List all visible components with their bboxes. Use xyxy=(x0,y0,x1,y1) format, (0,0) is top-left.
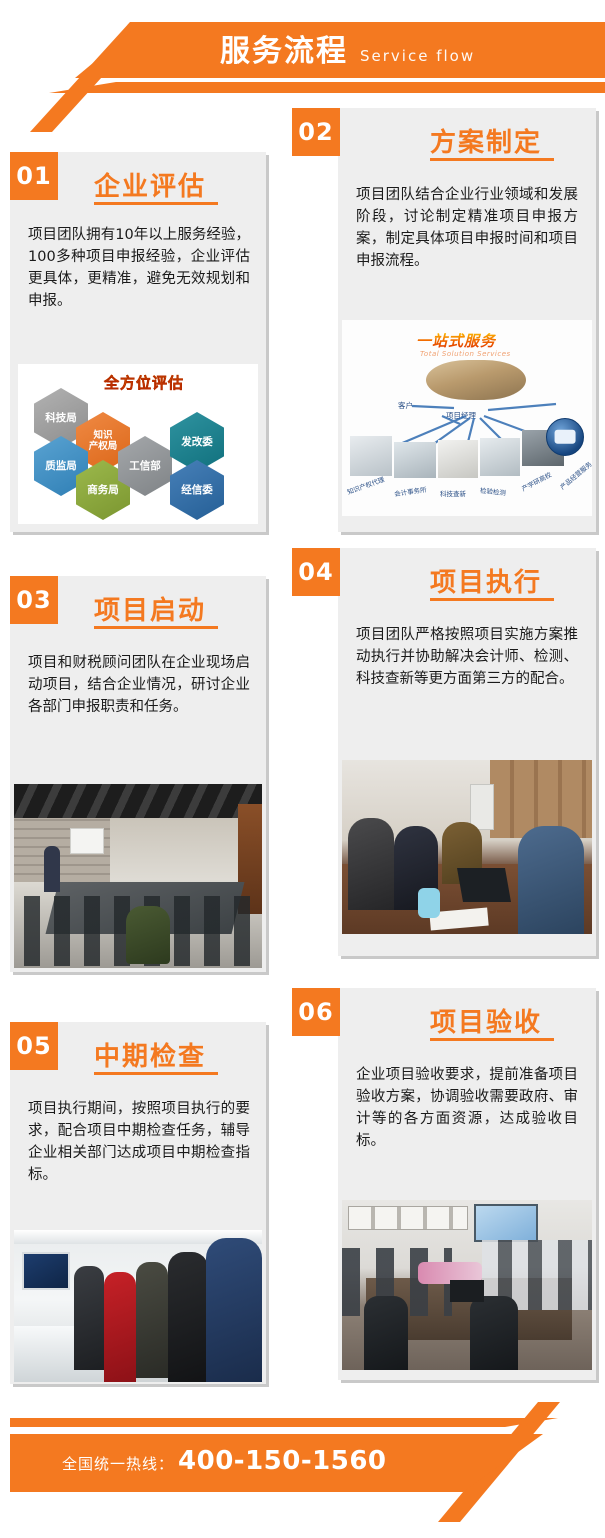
laptop-on-table xyxy=(450,1280,484,1302)
chair-front-left xyxy=(364,1296,408,1370)
visitor-blue-jacket xyxy=(206,1238,262,1382)
standing-person xyxy=(44,846,60,892)
title-underline xyxy=(430,158,554,161)
hex-node-label: 科技局 xyxy=(45,412,77,424)
title-underline xyxy=(430,598,554,601)
visitor-dark-1 xyxy=(74,1266,104,1370)
visitor-black-jacket xyxy=(168,1252,208,1382)
page-footer: 全国统一热线： 400-150-1560 xyxy=(0,1418,605,1538)
step-card-06: 06 项目验收 企业项目验收要求，提前准备项目验收方案，协调验收需要政府、审计等… xyxy=(292,988,602,1386)
hex-node-label: 知识产权局 xyxy=(89,431,118,453)
step-title: 项目验收 xyxy=(430,1002,542,1039)
hex-node-label: 质监局 xyxy=(45,460,77,472)
chair-front-right xyxy=(470,1296,518,1370)
step-description: 项目和财税顾问团队在企业现场启动项目，结合企业情况，研讨企业各部门申报职责和任务… xyxy=(28,652,250,718)
one-stop-label-ip: 知识产权代理 xyxy=(345,474,385,497)
one-stop-label-testing: 检验检测 xyxy=(480,485,507,498)
title-underline xyxy=(94,626,218,629)
title-underline xyxy=(94,202,218,205)
hex-node-label: 经信委 xyxy=(181,484,213,496)
hotline: 全国统一热线： 400-150-1560 xyxy=(62,1446,387,1476)
step-title: 方案制定 xyxy=(430,122,542,159)
one-stop-label-accounting: 会计事务所 xyxy=(393,484,427,498)
page-title: 服务流程 Service flow xyxy=(220,30,475,74)
one-stop-subtitle: Total Solution Services xyxy=(420,350,511,358)
step-number-badge: 05 xyxy=(10,1022,58,1070)
step-card-02: 02 方案制定 项目团队结合企业行业领域和发展阶段，讨论制定精准项目申报方案，制… xyxy=(292,108,602,538)
hotline-number[interactable]: 400-150-1560 xyxy=(178,1446,387,1476)
photo-scene xyxy=(14,784,262,968)
page-title-cn: 服务流程 xyxy=(220,30,348,74)
step-title: 中期检查 xyxy=(94,1036,206,1073)
step-description: 项目团队拥有10年以上服务经验，100多种项目申报经验，企业评估更具体，更精准，… xyxy=(28,224,250,312)
hex-node-jingxin: 经信委 xyxy=(170,460,224,520)
visitor-dark-2 xyxy=(136,1262,168,1378)
service-flow-infographic: 服务流程 Service flow 01 企业评估 项目团队拥有10年以上服务经… xyxy=(0,0,605,1538)
air-conditioner xyxy=(470,784,494,830)
step-number-badge: 04 xyxy=(292,548,340,596)
hotline-label: 全国统一热线： xyxy=(62,1453,174,1474)
photo-scene xyxy=(342,760,592,934)
ceiling-grid xyxy=(14,784,262,818)
person-left-1 xyxy=(348,818,394,910)
visitor-red-coat xyxy=(104,1272,136,1382)
step-number-badge: 06 xyxy=(292,988,340,1036)
step-number-badge: 03 xyxy=(10,576,58,624)
wall-display xyxy=(22,1252,70,1290)
one-stop-thumb-search xyxy=(438,440,478,478)
step-title: 项目执行 xyxy=(430,562,542,599)
step-card-05: 05 中期检查 项目执行期间，按照项目执行的要求，配合项目中期检查任务，辅导企业… xyxy=(10,1022,272,1390)
step-description: 项目团队结合企业行业领域和发展阶段，讨论制定精准项目申报方案，制定具体项目申报时… xyxy=(356,184,578,272)
page-title-en: Service flow xyxy=(360,34,475,78)
footer-orange-stripe xyxy=(10,1418,605,1427)
title-underline xyxy=(430,1038,554,1041)
one-stop-service-diagram: 一站式服务 Total Solution Services 客户 项目经理 xyxy=(342,320,592,516)
hex-node-label: 发改委 xyxy=(181,436,213,448)
step-description: 项目执行期间，按照项目执行的要求，配合项目中期检查任务，辅导企业相关部门达成项目… xyxy=(28,1098,250,1186)
presentation-screen xyxy=(474,1204,538,1242)
hexagon-assessment-diagram: 全方位评估 科技局 知识产权局 质监局 商务局 工信部 发改委 经信委 xyxy=(18,364,258,524)
laptop-icon xyxy=(457,868,511,902)
step-description: 企业项目验收要求，提前准备项目验收方案，协调验收需要政府、审计等的各方面资源，达… xyxy=(356,1064,578,1152)
one-stop-thumb-accounting xyxy=(394,442,436,478)
whiteboard xyxy=(70,828,104,854)
step-card-03: 03 项目启动 项目和财税顾问团队在企业现场启动项目，结合企业情况，研讨企业各部… xyxy=(10,576,272,978)
step-title: 企业评估 xyxy=(94,166,206,203)
step-title: 项目启动 xyxy=(94,590,206,627)
step-description: 项目团队严格按照项目实施方案推动执行并协助解决会计师、检测、科技查新等更方面第三… xyxy=(356,624,578,690)
photo-site-visit-lobby xyxy=(14,1230,262,1382)
title-underline xyxy=(94,1072,218,1075)
photo-team-working-laptops xyxy=(342,760,592,934)
photo-scene xyxy=(14,1230,262,1382)
one-stop-title: 一站式服务 xyxy=(416,330,496,351)
step-card-01: 01 企业评估 项目团队拥有10年以上服务经验，100多种项目申报经验，企业评估… xyxy=(10,152,272,538)
hex-node-label: 商务局 xyxy=(87,484,119,496)
one-stop-label-university: 产学研高校 xyxy=(520,469,553,493)
hexagon-diagram-title: 全方位评估 xyxy=(104,372,184,393)
one-stop-seal-icon xyxy=(546,418,584,456)
step-card-04: 04 项目执行 项目团队严格按照项目实施方案推动执行并协助解决会计师、检测、科技… xyxy=(292,548,602,962)
photo-scene xyxy=(342,1200,592,1370)
one-stop-thumb-testing xyxy=(480,438,520,476)
seated-person-green-coat xyxy=(126,906,170,964)
hex-node-label: 工信部 xyxy=(129,460,161,472)
framed-certificates xyxy=(348,1206,468,1230)
person-right-front xyxy=(518,826,584,934)
photo-acceptance-meeting xyxy=(342,1200,592,1370)
page-header: 服务流程 Service flow xyxy=(0,0,605,120)
one-stop-thumb-ip xyxy=(350,436,392,476)
photo-conference-room-kickoff xyxy=(14,784,262,968)
step-number-badge: 02 xyxy=(292,108,340,156)
step-number-badge: 01 xyxy=(10,152,58,200)
one-stop-label-search: 科技查新 xyxy=(440,488,466,498)
water-bottle xyxy=(418,888,440,918)
